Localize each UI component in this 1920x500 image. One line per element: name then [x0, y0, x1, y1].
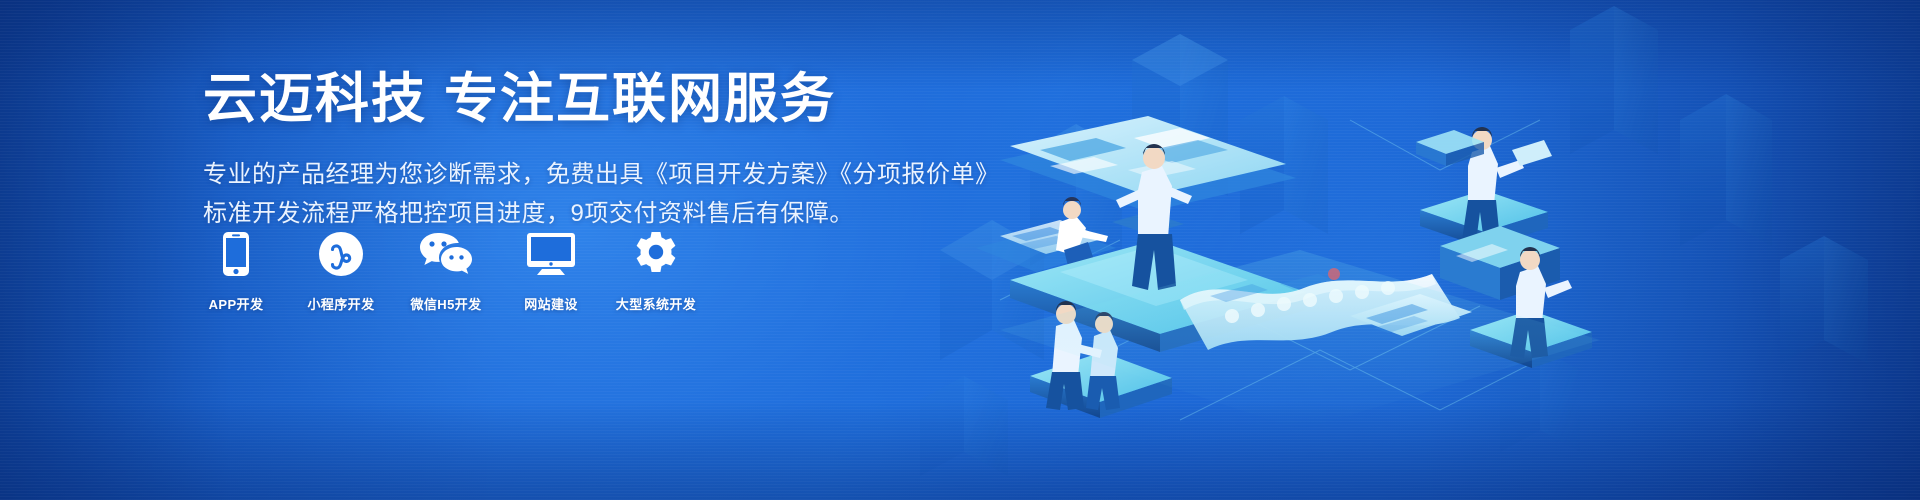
service-icon-row: APP开发 小程序开发 微信 [200, 228, 692, 313]
service-item-wechat[interactable]: 微信H5开发 [410, 228, 482, 313]
hero-copy: 云迈科技 专注互联网服务 专业的产品经理为您诊断需求，免费出具《项目开发方案》《… [203, 68, 1000, 234]
wechat-icon [419, 228, 473, 280]
service-item-miniprogram[interactable]: 小程序开发 [305, 228, 377, 313]
mini-program-icon [319, 228, 363, 280]
hero-subtitle: 专业的产品经理为您诊断需求，免费出具《项目开发方案》《分项报价单》 标准开发流程… [203, 156, 1000, 234]
illustration-container [880, 0, 1920, 500]
service-label: 小程序开发 [307, 294, 374, 313]
mobile-phone-icon [222, 228, 250, 280]
monitor-icon [526, 228, 576, 280]
subtitle-line-1: 专业的产品经理为您诊断需求，免费出具《项目开发方案》《分项报价单》 [203, 156, 1000, 195]
hero-banner: 云迈科技 专注互联网服务 专业的产品经理为您诊断需求，免费出具《项目开发方案》《… [0, 0, 1920, 500]
service-item-system[interactable]: 大型系统开发 [620, 228, 692, 313]
service-label: APP开发 [209, 294, 264, 313]
service-item-website[interactable]: 网站建设 [515, 228, 587, 313]
gear-icon [633, 228, 679, 280]
service-label: 微信H5开发 [410, 294, 481, 313]
service-item-app[interactable]: APP开发 [200, 228, 272, 313]
page-title: 云迈科技 专注互联网服务 [203, 68, 1000, 130]
service-label: 网站建设 [524, 294, 578, 313]
isometric-tech-team-illustration [880, 0, 1920, 500]
service-label: 大型系统开发 [616, 294, 696, 313]
